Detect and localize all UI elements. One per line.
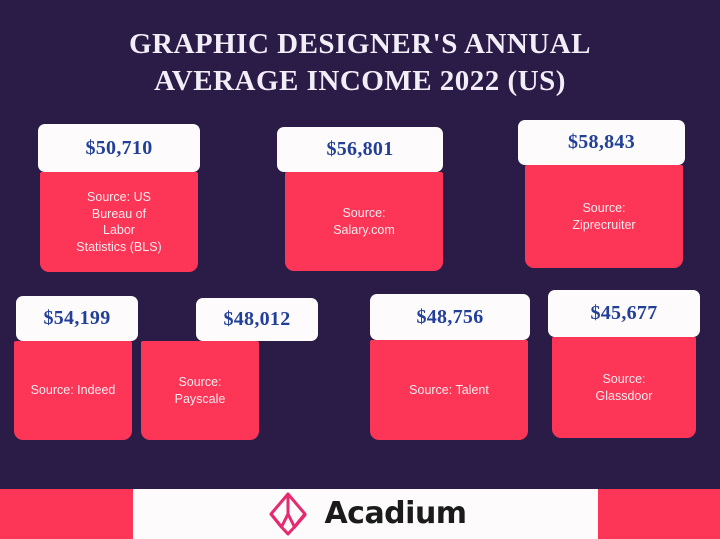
footer-bar: Acadium [0, 489, 720, 539]
title-line-2: AVERAGE INCOME 2022 (US) [0, 63, 720, 100]
salary-card-header: $54,199 [16, 296, 138, 341]
salary-source-label: Source: Glassdoor [596, 371, 653, 404]
salary-card-body: Source: Ziprecruiter [525, 165, 683, 268]
salary-source-label: Source: Salary.com [333, 205, 395, 238]
salary-source-label: Source: Talent [409, 382, 489, 399]
footer-accent-right [598, 489, 720, 539]
salary-amount: $48,012 [223, 308, 290, 331]
salary-amount: $56,801 [326, 138, 393, 161]
salary-card-salarycom: $56,801 Source: Salary.com [277, 127, 443, 271]
salary-card-indeed: $54,199 Source: Indeed [16, 296, 138, 440]
salary-amount: $58,843 [568, 131, 635, 154]
salary-card-header: $45,677 [548, 290, 700, 337]
salary-card-body: Source: Talent [370, 340, 528, 440]
salary-amount: $54,199 [43, 307, 110, 330]
salary-card-header: $48,756 [370, 294, 530, 340]
infographic-canvas: GRAPHIC DESIGNER'S ANNUAL AVERAGE INCOME… [0, 0, 720, 539]
salary-amount: $50,710 [85, 137, 152, 160]
salary-card-ziprecruiter: $58,843 Source: Ziprecruiter [518, 120, 685, 268]
footer-accent-left [0, 489, 133, 539]
salary-card-body: Source: Salary.com [285, 172, 443, 271]
salary-card-body: Source: US Bureau of Labor Statistics (B… [40, 172, 198, 272]
brand-name: Acadium [324, 499, 466, 529]
salary-card-header: $48,012 [196, 298, 318, 341]
salary-source-label: Source: Ziprecruiter [572, 200, 635, 233]
salary-card-payscale: $48,012 Source: Payscale [196, 298, 318, 440]
salary-amount: $45,677 [590, 302, 657, 325]
salary-card-header: $58,843 [518, 120, 685, 165]
salary-card-header: $56,801 [277, 127, 443, 172]
salary-card-body: Source: Glassdoor [552, 337, 696, 438]
salary-card-talent: $48,756 Source: Talent [370, 294, 530, 440]
salary-card-glassdoor: $45,677 Source: Glassdoor [548, 290, 700, 438]
salary-card-body: Source: Indeed [14, 341, 132, 440]
brand-lockup: Acadium [133, 489, 598, 539]
salary-card-header: $50,710 [38, 124, 200, 172]
salary-source-label: Source: Payscale [175, 374, 226, 407]
salary-amount: $48,756 [416, 306, 483, 329]
salary-card-body: Source: Payscale [141, 341, 259, 440]
title-line-1: GRAPHIC DESIGNER'S ANNUAL [0, 26, 720, 63]
acadium-diamond-logo-icon [264, 491, 312, 537]
salary-card-bls: $50,710 Source: US Bureau of Labor Stati… [38, 124, 200, 272]
salary-source-label: Source: US Bureau of Labor Statistics (B… [76, 189, 161, 255]
salary-source-label: Source: Indeed [31, 382, 116, 399]
page-title: GRAPHIC DESIGNER'S ANNUAL AVERAGE INCOME… [0, 26, 720, 100]
